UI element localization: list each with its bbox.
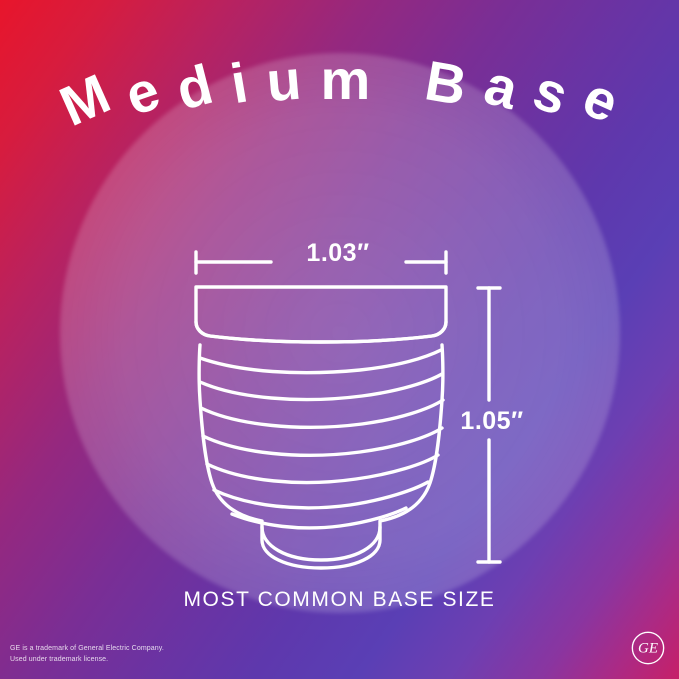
- ge-logo-monogram: GE: [638, 640, 658, 656]
- height-dimension-label: 1.05″: [452, 407, 532, 436]
- ge-logo-icon: GE: [631, 631, 665, 665]
- caption-text: MOST COMMON BASE SIZE: [0, 588, 679, 612]
- bulb-base-illustration: [0, 0, 679, 679]
- base-thread-lines: [200, 350, 443, 528]
- base-collar: [196, 287, 446, 342]
- legal-line-2: Used under trademark license.: [10, 655, 164, 666]
- legal-disclaimer: GE is a trademark of General Electric Co…: [10, 644, 164, 665]
- poster-image: Medium Base: [0, 0, 679, 679]
- legal-line-1: GE is a trademark of General Electric Co…: [10, 644, 164, 655]
- width-dimension-label: 1.03″: [248, 239, 428, 268]
- base-contact-tip: [262, 527, 380, 560]
